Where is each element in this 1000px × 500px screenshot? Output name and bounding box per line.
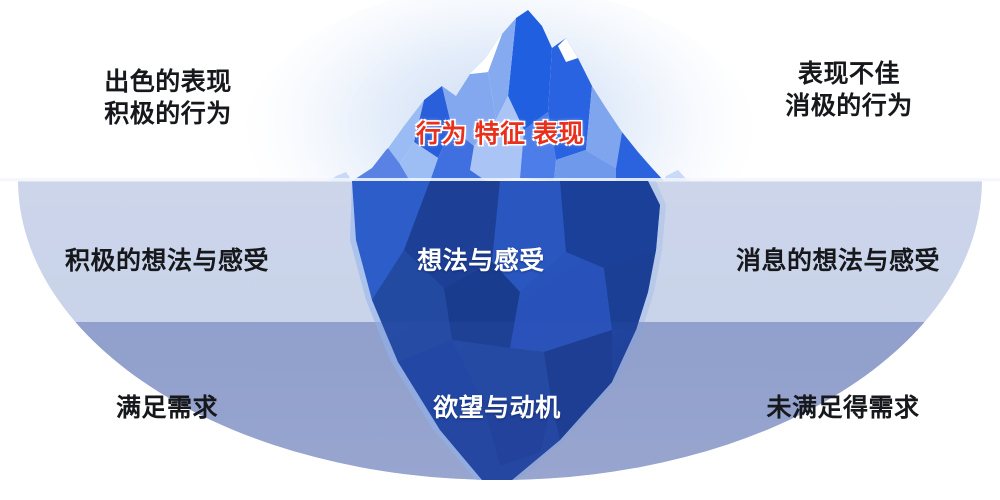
label-top-left: 出色的表现 积极的行为 — [104, 66, 232, 130]
label-middle-center: 想法与感受 — [417, 245, 545, 277]
iceberg-diagram: 出色的表现 积极的行为 表现不佳 消极的行为 行为 特征 表现 积极的想法与感受… — [0, 0, 1000, 500]
waterline-highlight — [330, 178, 690, 181]
label-top-right-line2: 消极的行为 — [785, 90, 913, 122]
label-bottom-left: 满足需求 — [116, 392, 218, 424]
label-middle-left: 积极的想法与感受 — [65, 245, 269, 277]
label-middle-right: 消息的想法与感受 — [736, 245, 940, 277]
label-top-right-line1: 表现不佳 — [785, 58, 913, 90]
label-bottom-right: 未满足得需求 — [766, 392, 919, 424]
label-bottom-center: 欲望与动机 — [433, 392, 561, 424]
label-top-right: 表现不佳 消极的行为 — [785, 58, 913, 122]
label-peak: 行为 特征 表现 — [416, 118, 584, 150]
label-top-left-line1: 出色的表现 — [104, 66, 232, 98]
label-top-left-line2: 积极的行为 — [104, 98, 232, 130]
